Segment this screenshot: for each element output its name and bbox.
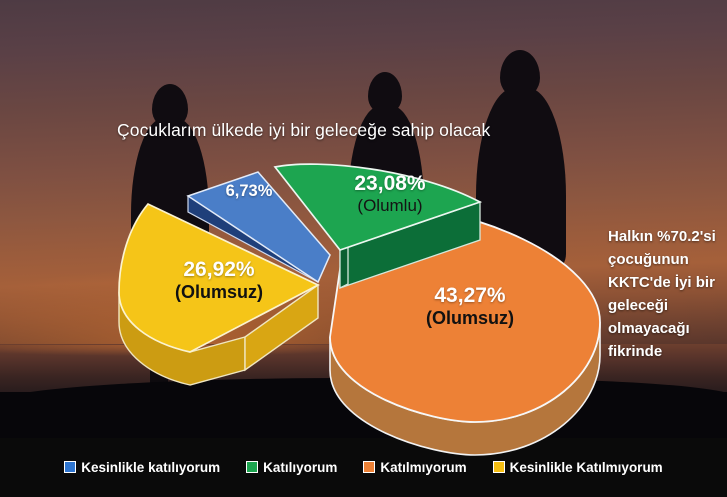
legend-item-katilmiyorum[interactable]: Katılmıyorum [363,460,466,475]
pie-label-katiliyorum-percent: 23,08% [295,172,485,196]
legend-label-kesinlikle-katiliyorum: Kesinlikle katılıyorum [81,460,220,475]
legend-swatch-green [246,461,258,473]
pie-label-katilmiyorum-group: (Olumsuz) [370,308,570,328]
slide-canvas: Çocuklarım ülkede iyi bir geleceğe sahip… [0,0,727,497]
legend-label-kesinlikle-katilmiyorum: Kesinlikle Katılmıyorum [510,460,663,475]
pie-label-katiliyorum-group: (Olumlu) [295,196,485,215]
legend-swatch-orange [363,461,375,473]
legend-item-kesinlikle-katiliyorum[interactable]: Kesinlikle katılıyorum [64,460,220,475]
pie-label-kesinlikle-katiliyorum-percent: 6,73% [194,182,304,200]
pie-label-kesinlikle-katilmiyorum-percent: 26,92% [124,258,314,282]
legend-item-kesinlikle-katilmiyorum[interactable]: Kesinlikle Katılmıyorum [493,460,663,475]
legend-swatch-yellow [493,461,505,473]
pie-label-kesinlikle-katiliyorum: 6,73% [194,182,304,200]
legend-label-katilmiyorum: Katılmıyorum [380,460,466,475]
summary-annotation: Halkın %70.2'si çocuğunun KKTC'de İyi bi… [608,225,724,363]
legend-swatch-blue [64,461,76,473]
pie-label-katilmiyorum: 43,27% (Olumsuz) [370,284,570,328]
legend-item-katiliyorum[interactable]: Katılıyorum [246,460,337,475]
pie-label-katiliyorum: 23,08% (Olumlu) [295,172,485,215]
pie-label-kesinlikle-katilmiyorum: 26,92% (Olumsuz) [124,258,314,302]
pie-label-kesinlikle-katilmiyorum-group: (Olumsuz) [124,282,314,302]
pie-label-katilmiyorum-percent: 43,27% [370,284,570,308]
pie-slice-katiliyorum-side-left [340,246,348,288]
chart-legend: Kesinlikle katılıyorum Katılıyorum Katıl… [0,452,727,482]
legend-label-katiliyorum: Katılıyorum [263,460,337,475]
